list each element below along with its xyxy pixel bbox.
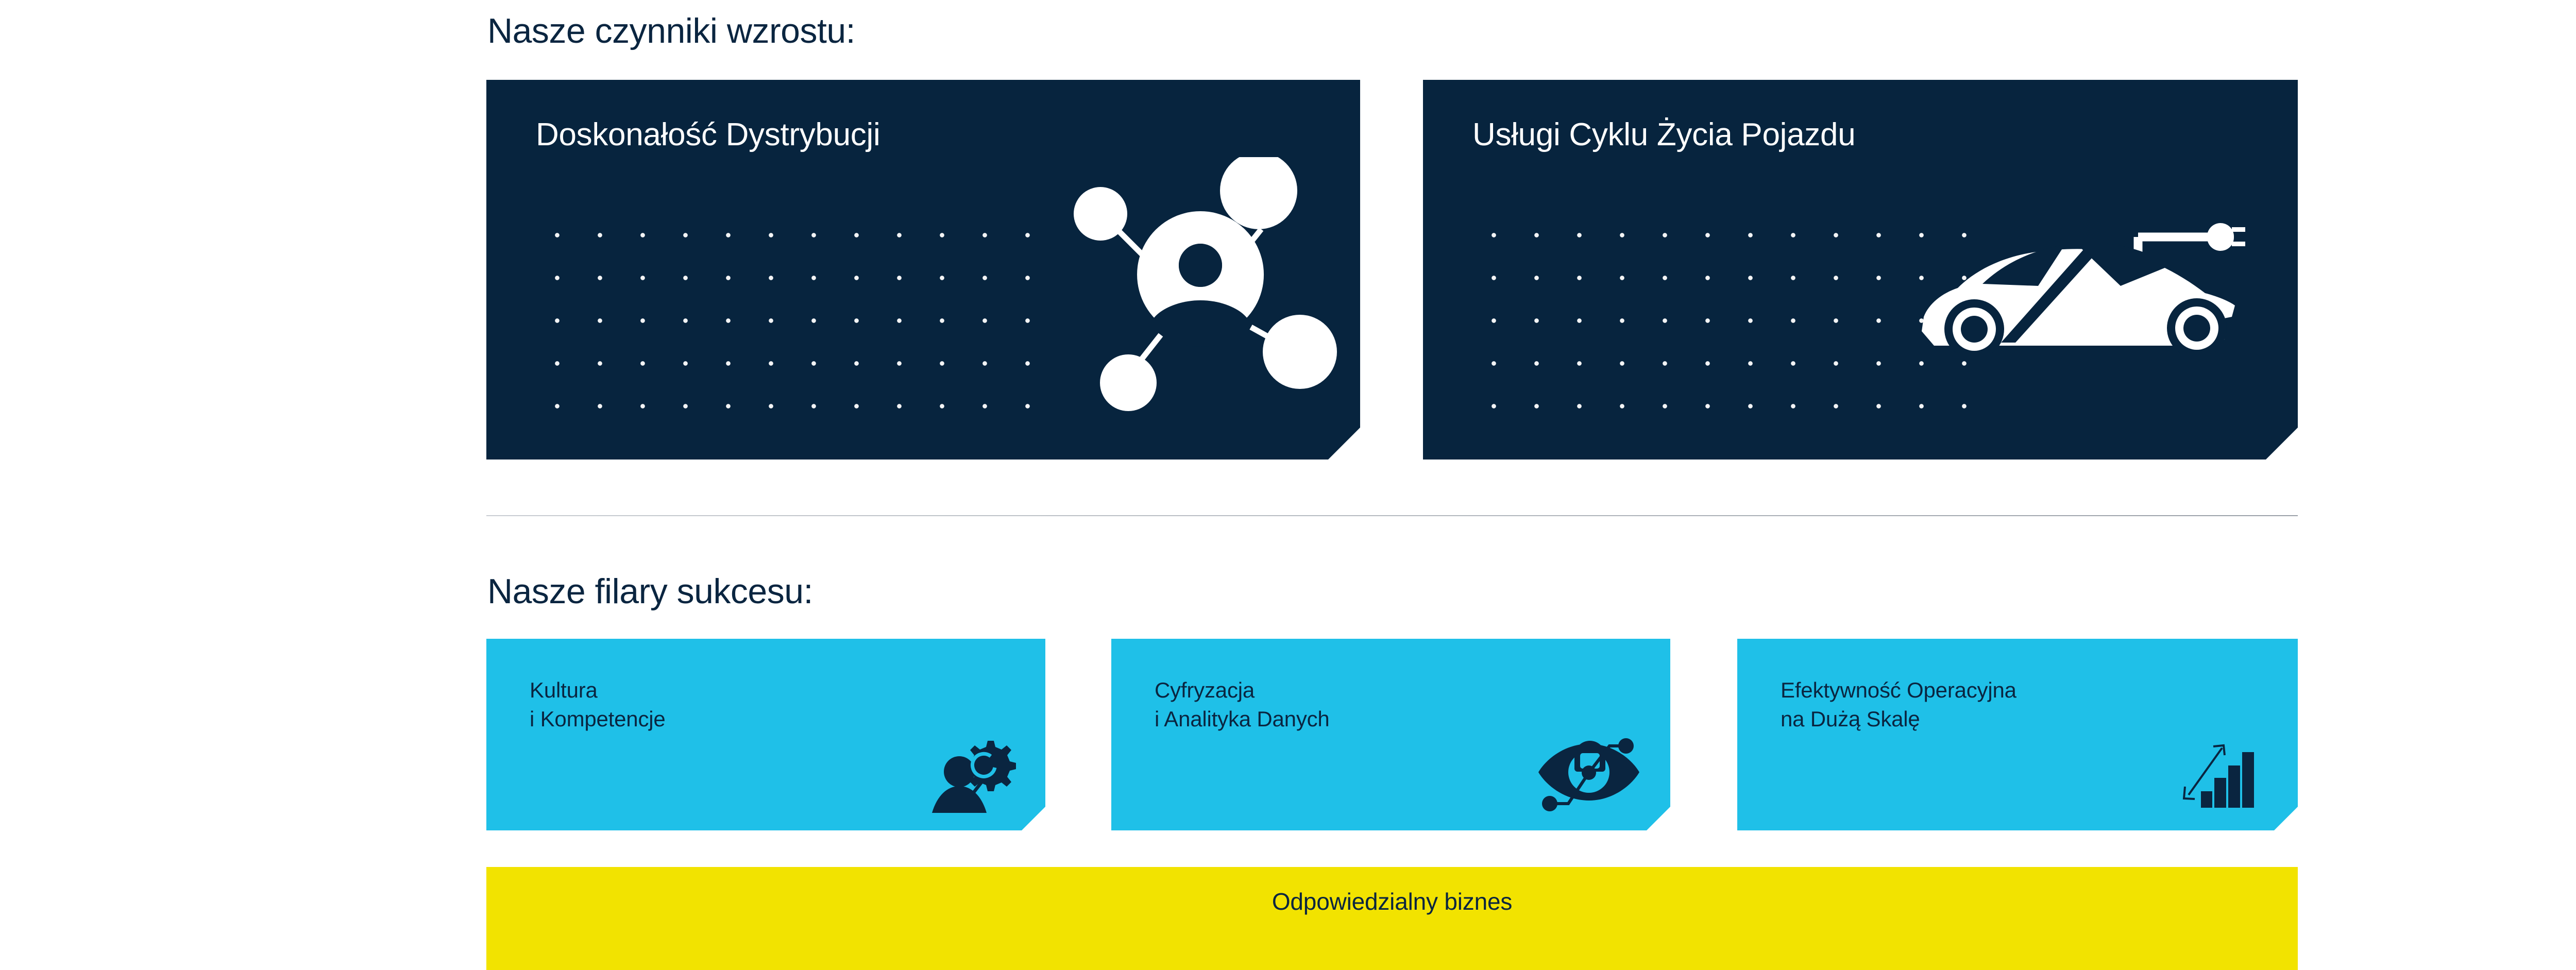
growth-card-lifecycle[interactable]: Usługi Cyklu Życia Pojazdu <box>1423 80 2298 460</box>
electric-car-icon <box>1905 188 2266 358</box>
responsible-business-bar[interactable]: Odpowiedzialny biznes <box>486 867 2298 970</box>
section-divider <box>486 515 2298 516</box>
dot-pattern-decoration <box>536 214 1051 433</box>
responsible-business-label: Odpowiedzialny biznes <box>1272 888 1512 915</box>
infographic-stage: Nasze czynniki wzrostu: Doskonałość Dyst… <box>0 0 2576 970</box>
person-gear-icon <box>921 726 1019 819</box>
pillar-card-culture[interactable]: Kultura i Kompetencje <box>486 639 1045 830</box>
pillar-card-digitalisation[interactable]: Cyfryzacja i Analityka Danych <box>1111 639 1670 830</box>
eye-lock-network-icon <box>1537 727 1640 815</box>
pillar-card-digitalisation-title: Cyfryzacja i Analityka Danych <box>1155 676 1330 734</box>
pillar-card-efficiency[interactable]: Efektywność Operacyjna na Dużą Skalę <box>1737 639 2298 830</box>
pillar-card-culture-title: Kultura i Kompetencje <box>530 676 666 734</box>
growth-chart-arrow-icon <box>2168 730 2266 815</box>
growth-card-distribution-title: Doskonałość Dystrybucji <box>536 119 880 151</box>
growth-card-distribution[interactable]: Doskonałość Dystrybucji <box>486 80 1360 460</box>
pillars-heading: Nasze filary sukcesu: <box>487 574 813 609</box>
growth-card-lifecycle-title: Usługi Cyklu Życia Pojazdu <box>1472 119 1855 151</box>
growth-factors-heading: Nasze czynniki wzrostu: <box>487 13 855 48</box>
pillar-card-efficiency-title: Efektywność Operacyjna na Dużą Skalę <box>1781 676 2016 734</box>
network-person-icon <box>1060 157 1349 425</box>
